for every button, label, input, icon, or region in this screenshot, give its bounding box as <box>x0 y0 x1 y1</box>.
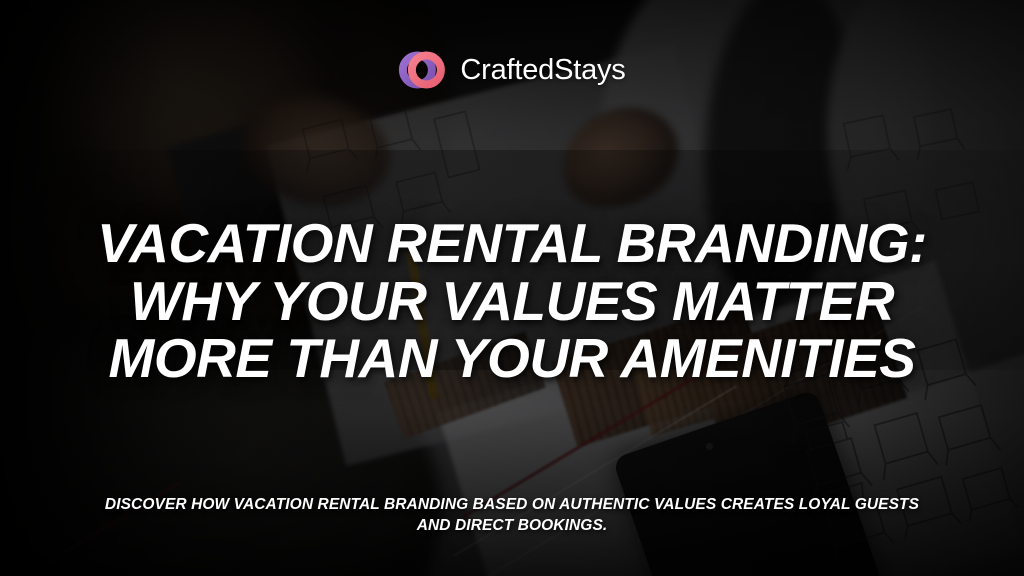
page-subtitle: DISCOVER HOW VACATION RENTAL BRANDING BA… <box>0 495 1024 537</box>
subtitle-line-1: DISCOVER HOW VACATION RENTAL BRANDING BA… <box>105 496 919 513</box>
crafted-stays-rings-logo-icon <box>398 46 446 94</box>
page-title: VACATION RENTAL BRANDING: WHY YOUR VALUE… <box>0 215 1024 388</box>
hero-content: CraftedStays VACATION RENTAL BRANDING: W… <box>0 0 1024 576</box>
brand-name: CraftedStays <box>460 56 625 85</box>
blog-hero-banner: CraftedStays VACATION RENTAL BRANDING: W… <box>0 0 1024 576</box>
subtitle-line-2: AND DIRECT BOOKINGS. <box>417 517 608 534</box>
headline-line-1: VACATION RENTAL BRANDING: <box>34 215 990 273</box>
brand-logo-lockup[interactable]: CraftedStays <box>398 46 625 94</box>
headline-line-3: MORE THAN YOUR AMENITIES <box>34 330 990 388</box>
headline-line-2: WHY YOUR VALUES MATTER <box>34 273 990 331</box>
